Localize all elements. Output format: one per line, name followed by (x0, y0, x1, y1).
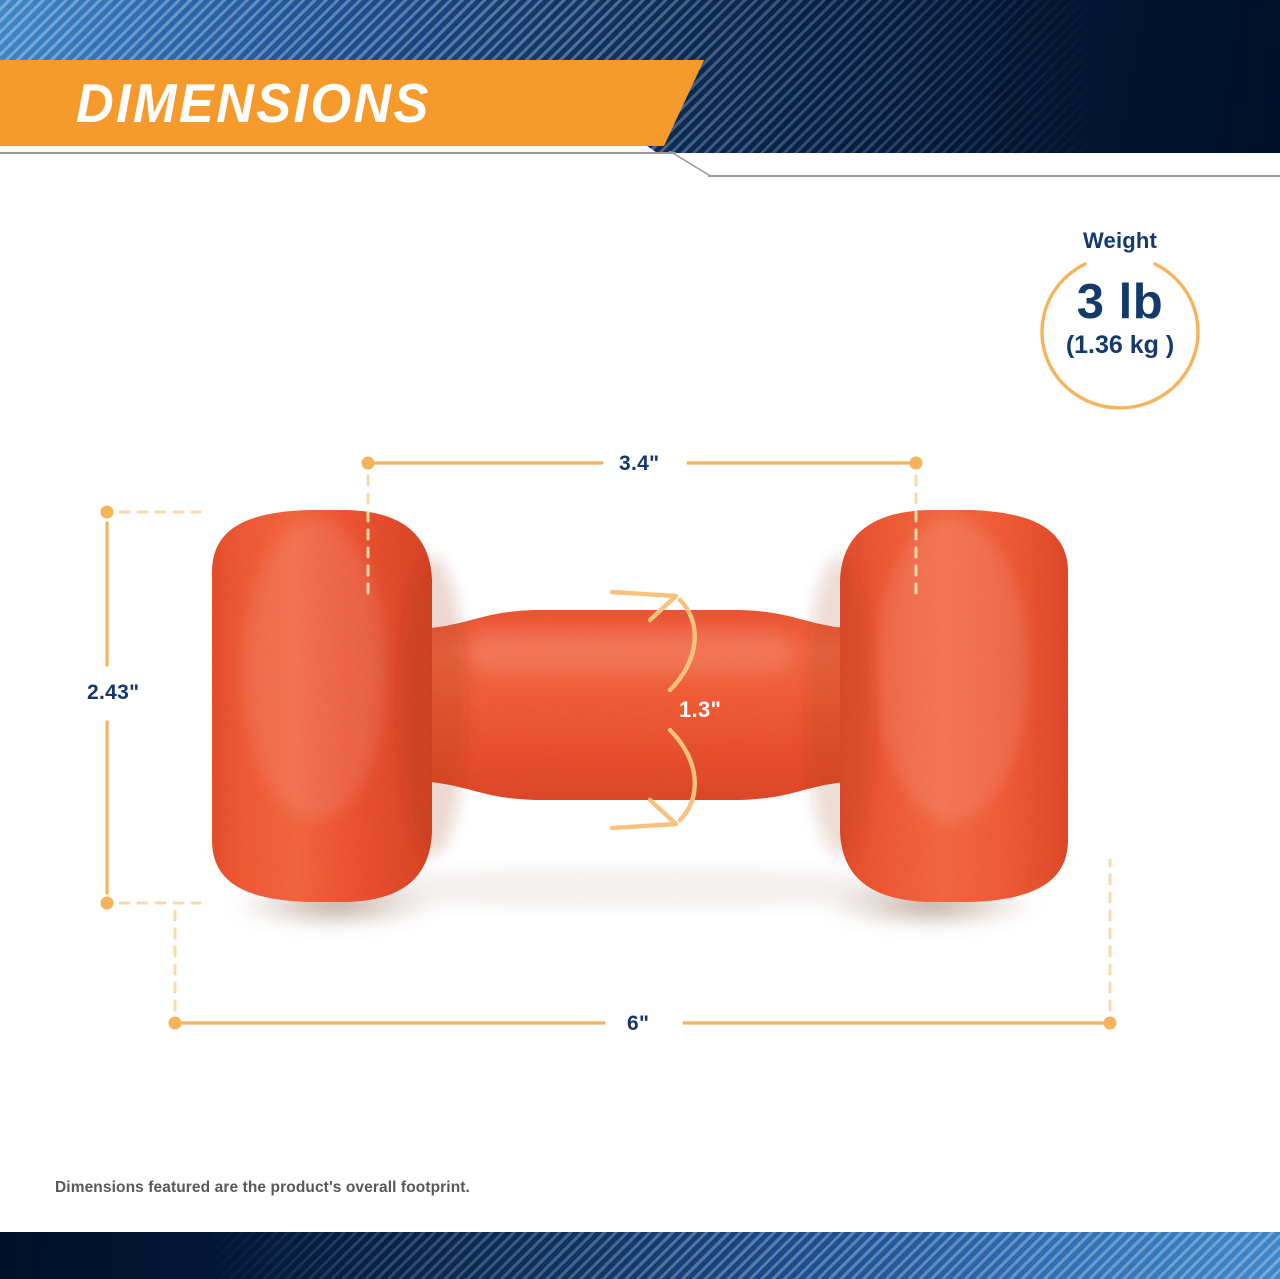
underline-right-segment (708, 175, 1280, 177)
weight-metric-value: (1.36 kg ) (1030, 333, 1210, 358)
page-title: DIMENSIONS (76, 76, 431, 131)
weight-label: Weight (1030, 228, 1210, 254)
header-underline-rule (0, 152, 1280, 178)
product-shadow-center (330, 868, 930, 908)
dimension-label-width-top: 3.4" (612, 452, 666, 476)
footnote-text: Dimensions featured are the product's ov… (55, 1179, 470, 1197)
product-image-dumbbell (140, 480, 1120, 940)
weight-badge: Weight 3 lb (1.36 kg ) (1030, 228, 1210, 420)
footer-stripe-pattern (0, 1232, 1280, 1279)
dimension-label-height-left: 2.43" (80, 681, 146, 705)
weight-value: 3 lb (1030, 278, 1210, 327)
neoprene-texture (212, 510, 1068, 902)
underline-left-segment (0, 152, 676, 154)
footer-banner (0, 1232, 1280, 1279)
dimension-label-handle-diameter: 1.3" (672, 697, 728, 723)
dimensions-infographic: DIMENSIONS Weight 3 lb (1.36 kg ) (0, 0, 1280, 1279)
underline-diagonal-segment (668, 151, 712, 177)
dimension-label-length-bottom: 6" (620, 1012, 656, 1036)
title-banner: DIMENSIONS (0, 60, 704, 146)
